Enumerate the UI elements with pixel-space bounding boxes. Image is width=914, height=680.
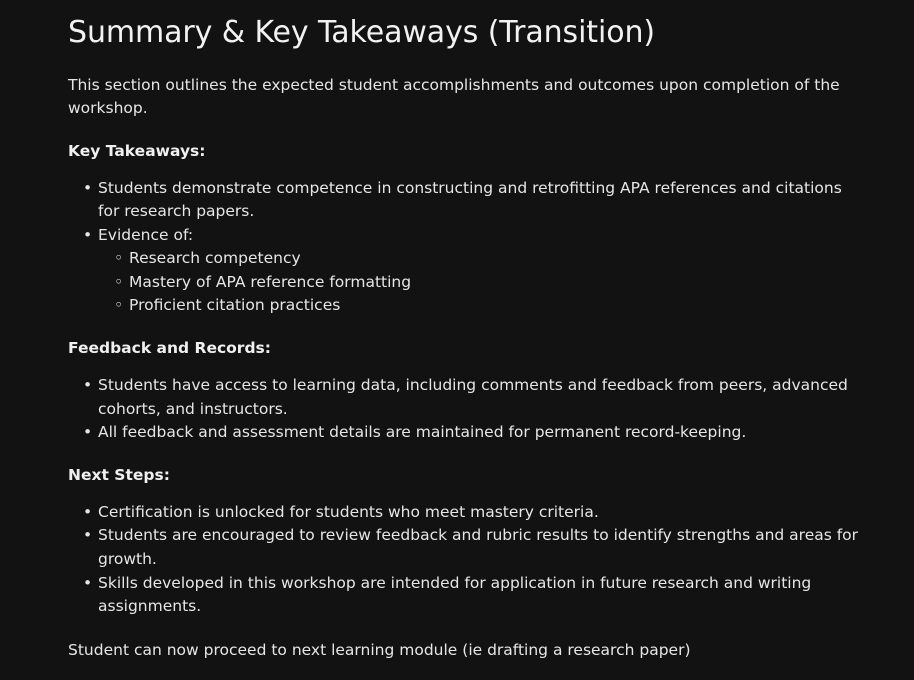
intro-paragraph: This section outlines the expected stude…	[68, 74, 868, 121]
page-title: Summary & Key Takeaways (Transition)	[68, 14, 868, 52]
list-item-text: Evidence of:	[98, 224, 868, 248]
list-item-text: Students have access to learning data, i…	[98, 374, 868, 421]
section-bullet-list: Students have access to learning data, i…	[68, 374, 868, 445]
list-item: Skills developed in this workshop are in…	[68, 572, 868, 619]
section-bullet-list: Students demonstrate competence in const…	[68, 177, 868, 318]
section-bullet-list: Certification is unlocked for students w…	[68, 501, 868, 619]
sub-list-item-text: Research competency	[129, 247, 868, 271]
sub-list-item-text: Mastery of APA reference formatting	[129, 271, 868, 295]
sub-list-item-text: Proficient citation practices	[129, 294, 868, 318]
sub-list-item: Proficient citation practices	[98, 294, 868, 318]
list-item-text: Certification is unlocked for students w…	[98, 501, 868, 525]
list-item: Students have access to learning data, i…	[68, 374, 868, 421]
list-item: Evidence of:Research competencyMastery o…	[68, 224, 868, 318]
list-item-text: Students are encouraged to review feedba…	[98, 524, 868, 571]
sub-bullet-list: Research competencyMastery of APA refere…	[98, 247, 868, 318]
sub-list-item: Mastery of APA reference formatting	[98, 271, 868, 295]
document-page: Summary & Key Takeaways (Transition) Thi…	[0, 0, 914, 680]
list-item-text: Students demonstrate competence in const…	[98, 177, 868, 224]
list-item: Certification is unlocked for students w…	[68, 501, 868, 525]
list-item: Students are encouraged to review feedba…	[68, 524, 868, 571]
section-heading: Feedback and Records:	[68, 338, 868, 358]
list-item: All feedback and assessment details are …	[68, 421, 868, 445]
section-heading: Key Takeaways:	[68, 141, 868, 161]
list-item-text: Skills developed in this workshop are in…	[98, 572, 868, 619]
list-item-text: All feedback and assessment details are …	[98, 421, 868, 445]
section-heading: Next Steps:	[68, 465, 868, 485]
closing-paragraph: Student can now proceed to next learning…	[68, 639, 868, 663]
sections-container: Key Takeaways:Students demonstrate compe…	[68, 141, 868, 619]
sub-list-item: Research competency	[98, 247, 868, 271]
list-item: Students demonstrate competence in const…	[68, 177, 868, 224]
